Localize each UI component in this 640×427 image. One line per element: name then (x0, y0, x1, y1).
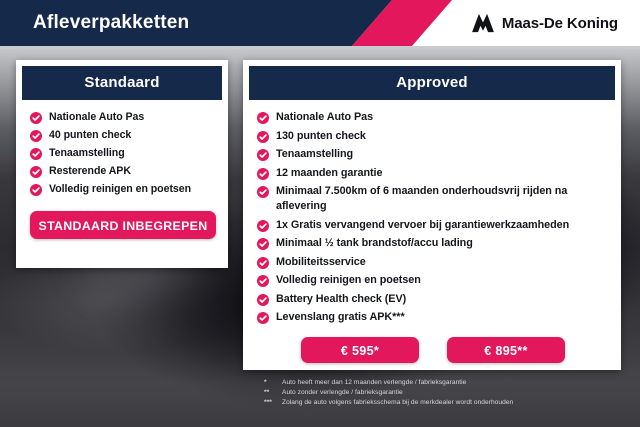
list-item: Tenaamstelling (30, 146, 216, 161)
list-item-label: Tenaamstelling (276, 147, 353, 162)
card-standaard-title: Standaard (22, 66, 222, 100)
list-item-label: Tenaamstelling (49, 146, 125, 161)
footnote-row: * Auto heeft meer dan 12 maanden verleng… (264, 378, 604, 388)
list-item: 12 maanden garantie (257, 166, 609, 181)
promo-banner: Afleverpakketten Maas-De Koning Standaar… (0, 0, 640, 427)
list-item-label: Levenslang gratis APK*** (276, 310, 405, 325)
list-item-label: 40 punten check (49, 128, 131, 143)
card-approved-title: Approved (249, 66, 615, 100)
list-item: Battery Health check (EV) (257, 292, 609, 307)
check-circle-icon (257, 257, 269, 269)
list-item-label: Volledig reinigen en poetsen (276, 273, 421, 288)
check-circle-icon (257, 238, 269, 250)
list-item-label: 12 maanden garantie (276, 166, 382, 181)
check-circle-icon (30, 112, 42, 124)
header-divider (0, 46, 640, 49)
list-item-label: Nationale Auto Pas (276, 110, 373, 125)
list-item: Mobiliteitsservice (257, 255, 609, 270)
standaard-feature-list: Nationale Auto Pas 40 punten check Tenaa… (30, 110, 216, 197)
footnote-row: *** Zolang de auto volgens fabrieksschem… (264, 398, 604, 408)
list-item-label: Mobiliteitsservice (276, 255, 366, 270)
list-item-label: Battery Health check (EV) (276, 292, 406, 307)
check-circle-icon (257, 149, 269, 161)
list-item-label: 130 punten check (276, 129, 366, 144)
list-item: Volledig reinigen en poetsen (257, 273, 609, 288)
page-header: Afleverpakketten Maas-De Koning (0, 0, 640, 46)
list-item: Nationale Auto Pas (257, 110, 609, 125)
card-standaard: Standaard Nationale Auto Pas 40 punten c… (16, 60, 228, 268)
price-button-row: € 595* € 895** (257, 337, 609, 363)
footnote-row: ** Auto zonder verlengde / fabrieksgaran… (264, 388, 604, 398)
standaard-inbegrepen-button[interactable]: STANDAARD INBEGREPEN (30, 211, 216, 239)
card-approved-body: Nationale Auto Pas 130 punten check Tena… (249, 100, 615, 363)
list-item-label: Resterende APK (49, 164, 131, 179)
check-circle-icon (30, 130, 42, 142)
check-circle-icon (257, 186, 269, 198)
list-item: 40 punten check (30, 128, 216, 143)
check-circle-icon (30, 148, 42, 160)
footnote-text: Zolang de auto volgens fabrieksschema bi… (282, 398, 604, 408)
check-circle-icon (257, 131, 269, 143)
check-circle-icon (30, 184, 42, 196)
price-button-595[interactable]: € 595* (301, 337, 419, 363)
footnote-text: Auto heeft meer dan 12 maanden verlengde… (282, 378, 604, 388)
price-button-895[interactable]: € 895** (447, 337, 565, 363)
list-item-label: Nationale Auto Pas (49, 110, 144, 125)
check-circle-icon (257, 275, 269, 287)
list-item: Tenaamstelling (257, 147, 609, 162)
card-approved: Approved Nationale Auto Pas 130 punten c… (243, 60, 621, 370)
list-item: Minimaal 7.500km of 6 maanden onderhouds… (257, 184, 609, 214)
brand-name: Maas-De Koning (502, 15, 618, 32)
footnote-block: * Auto heeft meer dan 12 maanden verleng… (264, 378, 604, 408)
maas-de-koning-m-logo-icon (471, 13, 495, 33)
list-item: Nationale Auto Pas (30, 110, 216, 125)
check-circle-icon (257, 112, 269, 124)
list-item: Volledig reinigen en poetsen (30, 182, 216, 197)
list-item-label: Minimaal ½ tank brandstof/accu lading (276, 236, 473, 251)
check-circle-icon (30, 166, 42, 178)
check-circle-icon (257, 312, 269, 324)
footnote-text: Auto zonder verlengde / fabrieksgarantie (282, 388, 604, 398)
check-circle-icon (257, 220, 269, 232)
check-circle-icon (257, 168, 269, 180)
list-item: Levenslang gratis APK*** (257, 310, 609, 325)
list-item: Resterende APK (30, 164, 216, 179)
card-standaard-body: Nationale Auto Pas 40 punten check Tenaa… (22, 100, 222, 239)
brand-logo: Maas-De Koning (471, 0, 618, 46)
check-circle-icon (257, 294, 269, 306)
list-item-label: Minimaal 7.500km of 6 maanden onderhouds… (276, 184, 609, 214)
page-title: Afleverpakketten (33, 0, 189, 46)
footnote-marker: *** (264, 398, 282, 408)
list-item-label: Volledig reinigen en poetsen (49, 182, 191, 197)
approved-feature-list: Nationale Auto Pas 130 punten check Tena… (257, 110, 609, 325)
footnote-marker: ** (264, 388, 282, 398)
list-item: 130 punten check (257, 129, 609, 144)
list-item-label: 1x Gratis vervangend vervoer bij garanti… (276, 218, 569, 233)
list-item: Minimaal ½ tank brandstof/accu lading (257, 236, 609, 251)
list-item: 1x Gratis vervangend vervoer bij garanti… (257, 218, 609, 233)
footnote-marker: * (264, 378, 282, 388)
